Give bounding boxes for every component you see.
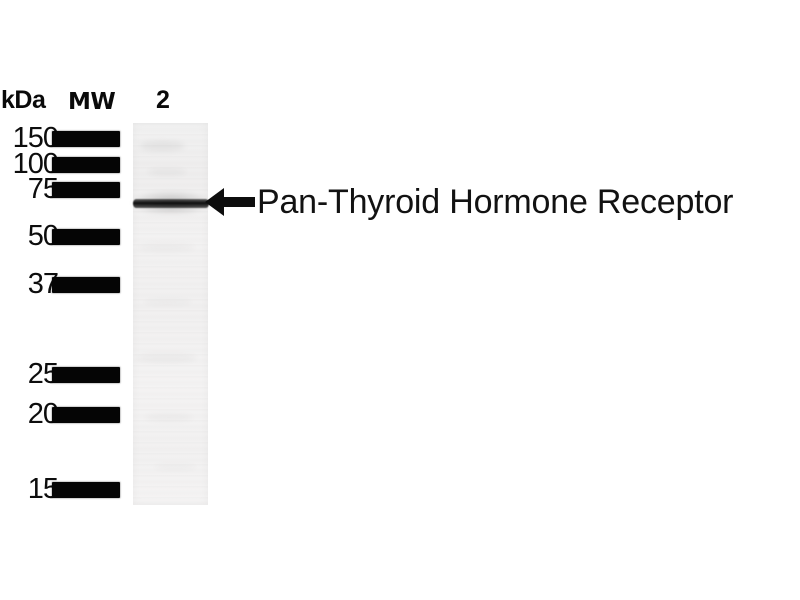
mw-marker-band <box>52 367 120 383</box>
lane-smudge <box>147 168 187 176</box>
mw-marker-band <box>52 182 120 198</box>
lane-smudge <box>139 141 185 151</box>
mw-marker-band <box>52 229 120 245</box>
mw-marker-band <box>52 157 120 173</box>
mw-marker-band <box>52 277 120 293</box>
lane-smudge <box>153 463 197 471</box>
mw-ladder: 150100755037252015 <box>0 0 130 600</box>
lane-smudge <box>143 298 193 306</box>
sample-lane-2 <box>133 123 208 505</box>
arrow-left-icon <box>204 180 256 224</box>
target-protein-band <box>133 199 209 208</box>
mw-marker-band <box>52 131 120 147</box>
band-annotation: Pan-Thyroid Hormone Receptor <box>204 180 733 224</box>
western-blot-figure: kDa MW 2 150100755037252015 Pan-Thyroid … <box>0 0 800 600</box>
lane-smudge <box>137 243 195 252</box>
lane-smudge <box>145 413 193 422</box>
mw-marker-band <box>52 482 120 498</box>
band-annotation-label: Pan-Thyroid Hormone Receptor <box>257 185 733 219</box>
lane-smudge <box>135 353 197 363</box>
mw-marker-band <box>52 407 120 423</box>
lane-label-2: 2 <box>156 88 170 113</box>
